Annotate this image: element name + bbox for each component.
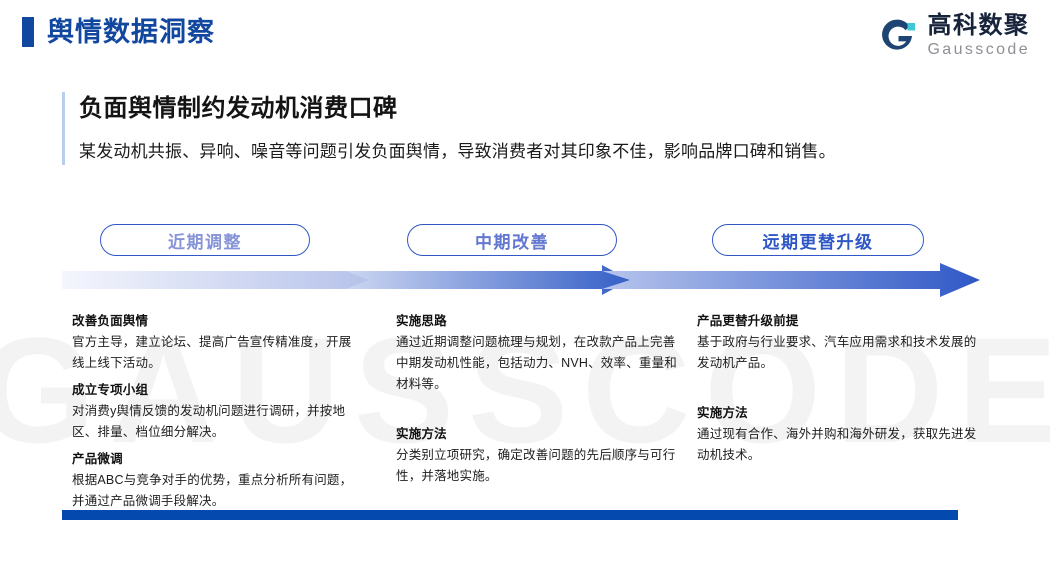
logo-name-cn: 高科数聚 (927, 14, 1030, 38)
detail-block-heading: 产品微调 (72, 449, 362, 470)
detail-block-body: 通过现有合作、海外并购和海外研发，获取先进发动机技术。 (697, 424, 987, 466)
detail-block-body: 分类别立项研究，确定改善问题的先后顺序与可行性，并落地实施。 (396, 445, 686, 487)
detail-block: 实施思路 通过近期调整问题梳理与规划，在改款产品上完善中期发动机性能，包括动力、… (396, 311, 686, 395)
detail-block: 成立专项小组 对消费y舆情反馈的发动机问题进行调研，并按地区、排量、档位细分解决… (72, 380, 362, 443)
brand-logo: 高科数聚 Gausscode (876, 14, 1030, 58)
detail-block-body: 通过近期调整问题梳理与规划，在改款产品上完善中期发动机性能，包括动力、NVH、效… (396, 332, 686, 395)
stage-pill-mid-term[interactable]: 中期改善 (407, 224, 617, 256)
detail-block-heading: 实施方法 (396, 424, 686, 445)
detail-block-body: 对消费y舆情反馈的发动机问题进行调研，并按地区、排量、档位细分解决。 (72, 401, 362, 443)
column-spacer (396, 401, 686, 424)
logo-name-en: Gausscode (927, 42, 1030, 58)
header-title-group: 舆情数据洞察 (22, 17, 215, 47)
detail-block-heading: 改善负面舆情 (72, 311, 362, 332)
column-long-term: 产品更替升级前提 基于政府与行业要求、汽车应用需求和技术发展的发动机产品。 实施… (697, 311, 987, 472)
page-header: 舆情数据洞察 高科数聚 Gausscode (0, 0, 1050, 72)
stage-pill-row: 近期调整 中期改善 远期更替升级 (0, 224, 1050, 258)
footer-accent-bar (62, 510, 958, 520)
detail-block: 产品微调 根据ABC与竞争对手的优势，重点分析所有问题，并通过产品微调手段解决。 (72, 449, 362, 512)
detail-block-body: 官方主导，建立论坛、提高广告宣传精准度，开展线上线下活动。 (72, 332, 362, 374)
headline-text: 负面舆情制约发动机消费口碑 (79, 92, 962, 126)
detail-block-body: 根据ABC与竞争对手的优势，重点分析所有问题，并通过产品微调手段解决。 (72, 470, 362, 512)
column-mid-term: 实施思路 通过近期调整问题梳理与规划，在改款产品上完善中期发动机性能，包括动力、… (396, 311, 686, 493)
detail-block-body: 基于政府与行业要求、汽车应用需求和技术发展的发动机产品。 (697, 332, 987, 374)
detail-block: 实施方法 通过现有合作、海外并购和海外研发，获取先进发动机技术。 (697, 403, 987, 466)
progress-arrow-band (62, 263, 980, 297)
column-near-term: 改善负面舆情 官方主导，建立论坛、提高广告宣传精准度，开展线上线下活动。 成立专… (72, 311, 362, 518)
logo-wordmark: 高科数聚 Gausscode (927, 14, 1030, 58)
stage-pill-near-term[interactable]: 近期调整 (100, 224, 310, 256)
detail-block-heading: 实施方法 (697, 403, 987, 424)
detail-block: 改善负面舆情 官方主导，建立论坛、提高广告宣传精准度，开展线上线下活动。 (72, 311, 362, 374)
column-spacer (697, 380, 987, 403)
stage-detail-columns: 改善负面舆情 官方主导，建立论坛、提高广告宣传精准度，开展线上线下活动。 成立专… (0, 311, 1050, 501)
title-accent-bar-icon (22, 17, 34, 47)
detail-block-heading: 产品更替升级前提 (697, 311, 987, 332)
detail-block: 实施方法 分类别立项研究，确定改善问题的先后顺序与可行性，并落地实施。 (396, 424, 686, 487)
subheadline-text: 某发动机共振、异响、噪音等问题引发负面舆情，导致消费者对其印象不佳，影响品牌口碑… (79, 139, 962, 165)
stage-pill-long-term[interactable]: 远期更替升级 (712, 224, 924, 256)
detail-block-heading: 成立专项小组 (72, 380, 362, 401)
detail-block-heading: 实施思路 (396, 311, 686, 332)
gausscode-logo-mark-icon (876, 15, 918, 57)
page-title: 舆情数据洞察 (47, 17, 215, 47)
detail-block: 产品更替升级前提 基于政府与行业要求、汽车应用需求和技术发展的发动机产品。 (697, 311, 987, 374)
headline-block: 负面舆情制约发动机消费口碑 某发动机共振、异响、噪音等问题引发负面舆情，导致消费… (62, 92, 962, 165)
